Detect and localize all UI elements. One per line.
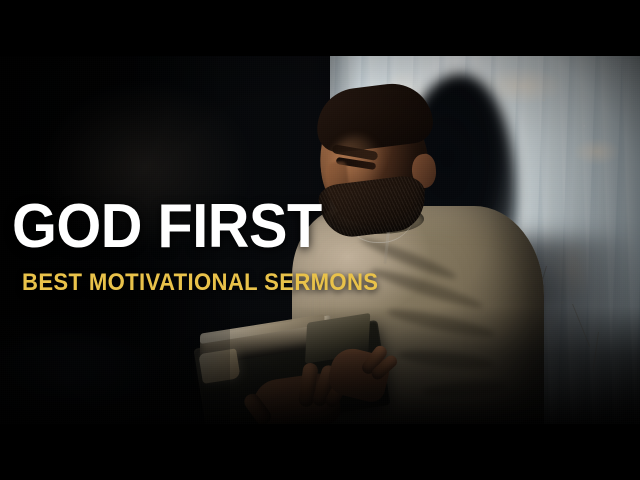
letterbox-bar-bottom bbox=[0, 424, 640, 480]
photo-area: GOD FIRST BEST MOTIVATIONAL SERMONS ABOV… bbox=[0, 56, 640, 424]
page-title: GOD FIRST bbox=[12, 195, 322, 259]
letterbox-bar-top bbox=[0, 0, 640, 56]
subtitle: BEST MOTIVATIONAL SERMONS bbox=[22, 270, 378, 296]
dark-foreground bbox=[0, 306, 640, 424]
video-thumbnail-frame: GOD FIRST BEST MOTIVATIONAL SERMONS ABOV… bbox=[0, 0, 640, 480]
